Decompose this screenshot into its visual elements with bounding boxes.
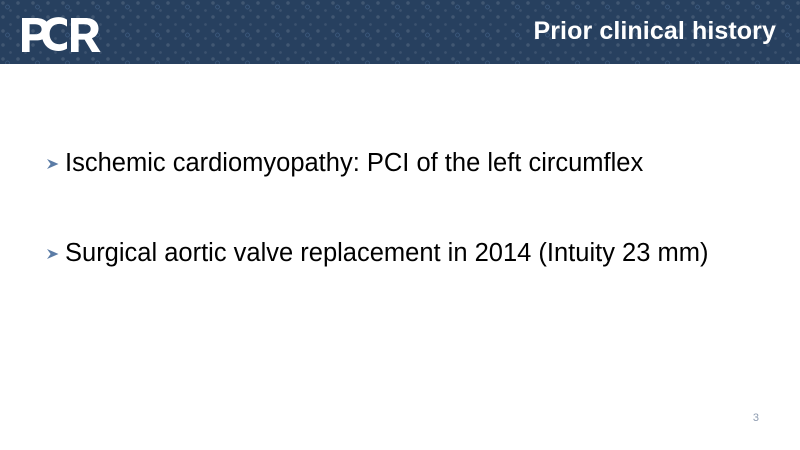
slide-body: Ischemic cardiomyopathy: PCI of the left…: [0, 64, 800, 450]
arrow-bullet-icon: [46, 145, 65, 170]
presentation-slide: Prior clinical history Ischemic cardiomy…: [0, 0, 800, 450]
arrow-bullet-icon: [46, 235, 65, 260]
list-item: Surgical aortic valve replacement in 201…: [46, 234, 776, 272]
page-title: Prior clinical history: [533, 14, 776, 48]
pcr-logo[interactable]: [20, 16, 104, 54]
list-item-text: Surgical aortic valve replacement in 201…: [65, 234, 776, 272]
list-item: Ischemic cardiomyopathy: PCI of the left…: [46, 144, 776, 182]
bullet-list: Ischemic cardiomyopathy: PCI of the left…: [46, 144, 776, 324]
page-number: 3: [753, 411, 759, 425]
list-item-text: Ischemic cardiomyopathy: PCI of the left…: [65, 144, 776, 182]
